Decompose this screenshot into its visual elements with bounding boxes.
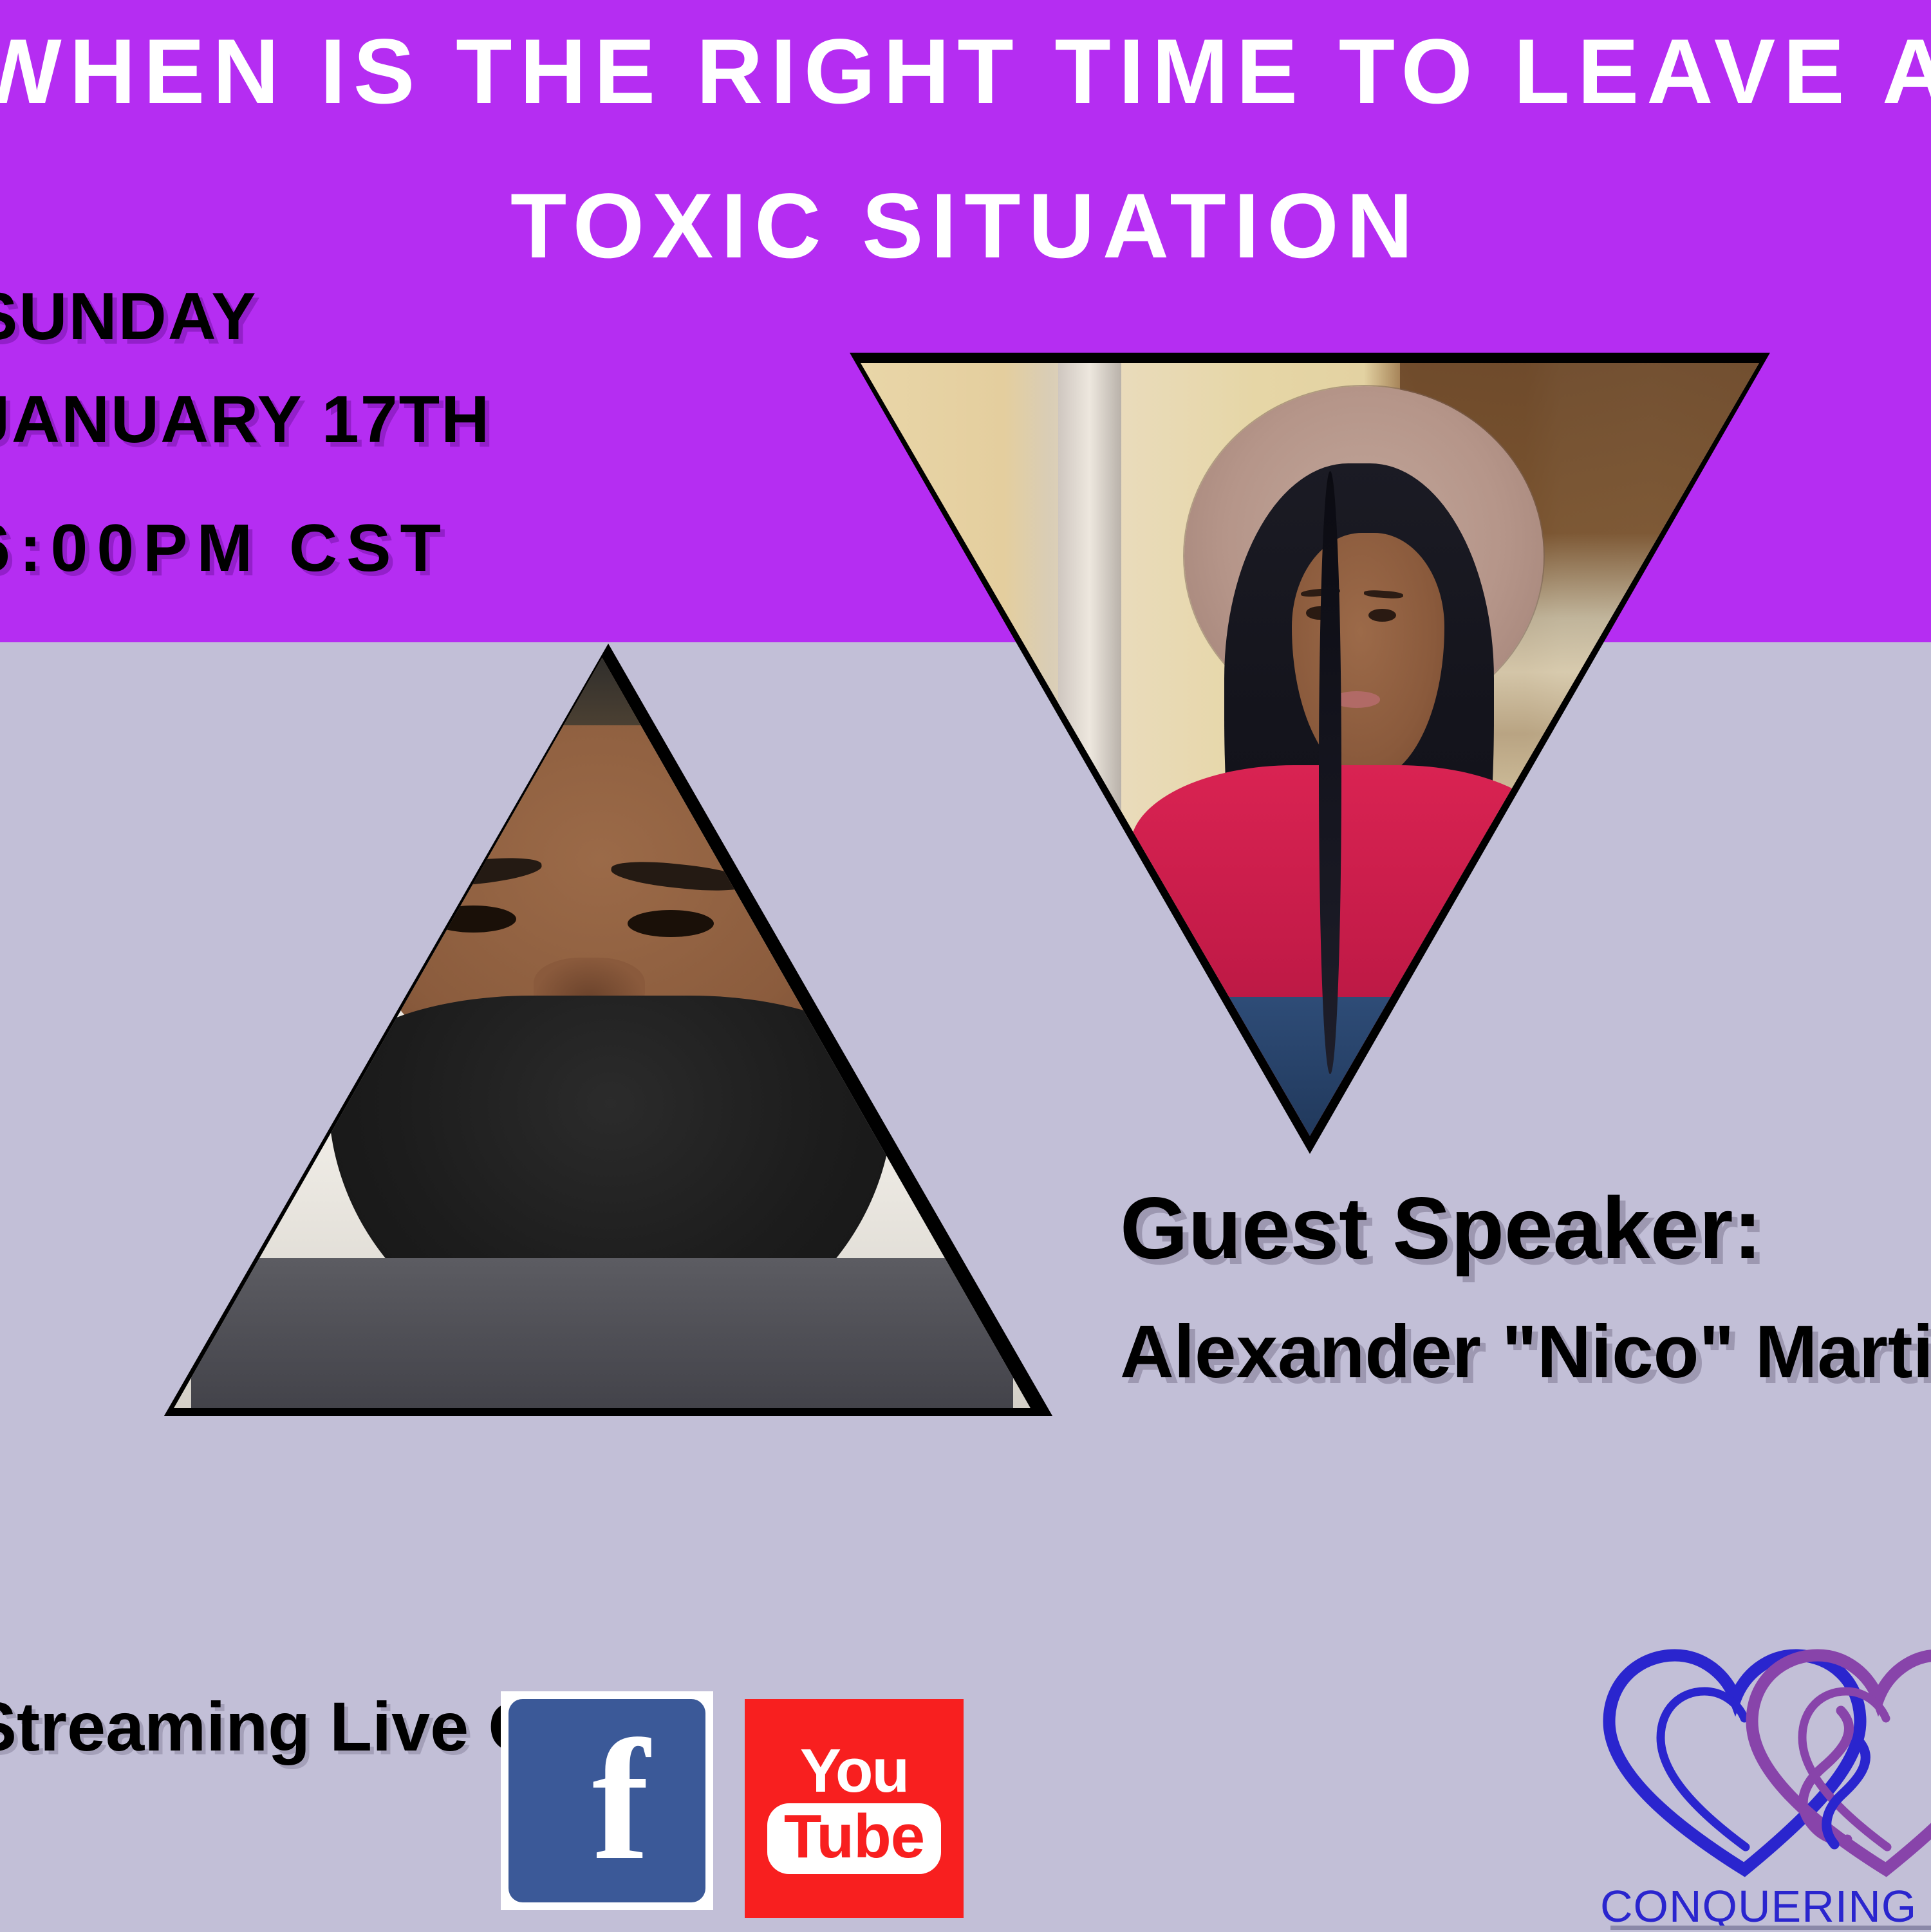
youtube-tube-box: Tube bbox=[767, 1803, 941, 1874]
guest-speaker-block: Guest Speaker: Alexander "Nico" Martin bbox=[1120, 1184, 1931, 1389]
guest-speaker-name: Alexander "Nico" Martin bbox=[1120, 1314, 1931, 1389]
page-title-line-2: TOXIC SITUATION bbox=[0, 174, 1931, 279]
brand-logo: CONQUERING RELATIONSHIPS bbox=[1583, 1635, 1931, 1931]
photo-scene-man bbox=[174, 658, 1031, 1408]
interlocking-hearts-icon bbox=[1583, 1635, 1931, 1892]
brand-logo-text: CONQUERING RELATIONSHIPS bbox=[1600, 1881, 1931, 1932]
guest-speaker-label: Guest Speaker: bbox=[1120, 1184, 1931, 1272]
event-day: SUNDAY bbox=[0, 283, 490, 350]
event-date-block: SUNDAY JANUARY 17TH 6:00PM CST bbox=[0, 283, 490, 582]
page-title-line-1: WHEN IS THE RIGHT TIME TO LEAVE A bbox=[0, 19, 1931, 125]
youtube-icon[interactable]: You Tube bbox=[745, 1699, 964, 1918]
speaker-photo-man bbox=[164, 644, 1052, 1416]
brand-logo-rule bbox=[1610, 1926, 1931, 1930]
youtube-you-text: You bbox=[800, 1743, 908, 1799]
photo-clip-man bbox=[174, 658, 1031, 1408]
event-time: 6:00PM CST bbox=[0, 515, 490, 582]
facebook-tile: f bbox=[508, 1699, 705, 1902]
facebook-icon[interactable]: f bbox=[501, 1691, 713, 1910]
facebook-f-glyph: f bbox=[592, 1727, 649, 1872]
event-date: JANUARY 17TH bbox=[0, 386, 490, 453]
youtube-tube-text: Tube bbox=[784, 1806, 924, 1868]
